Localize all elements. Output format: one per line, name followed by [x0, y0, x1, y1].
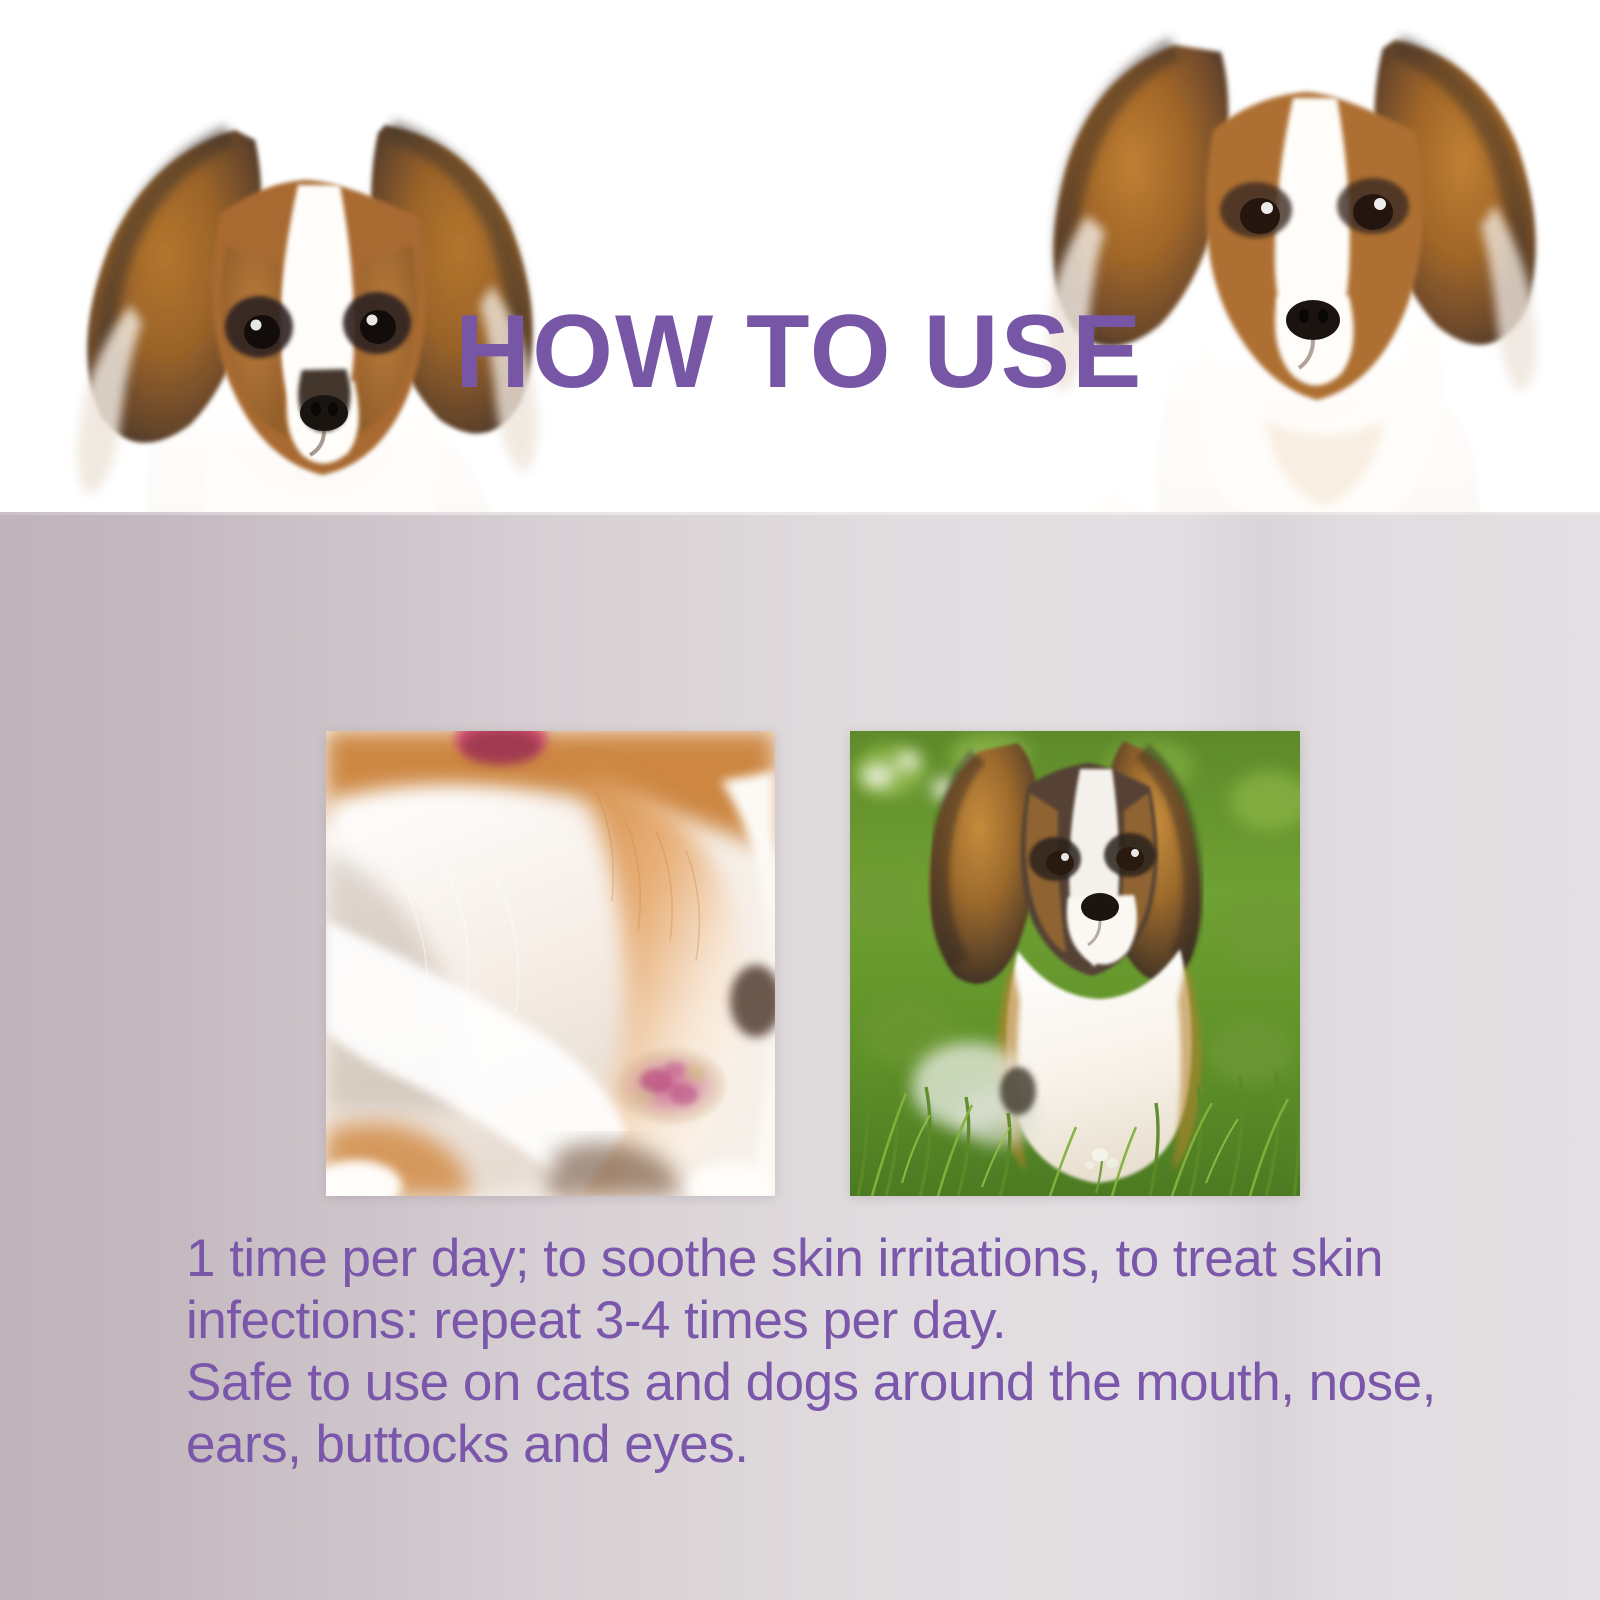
photo-papillon-in-grass [850, 731, 1300, 1196]
instructions-text: 1 time per day; to soothe skin irritatio… [186, 1228, 1516, 1476]
photo-skin-irritation [326, 731, 775, 1196]
page-title: HOW TO USE [455, 300, 1143, 404]
panel-top-edge [0, 512, 1600, 515]
poster-canvas: HOW TO USE [0, 0, 1600, 1600]
